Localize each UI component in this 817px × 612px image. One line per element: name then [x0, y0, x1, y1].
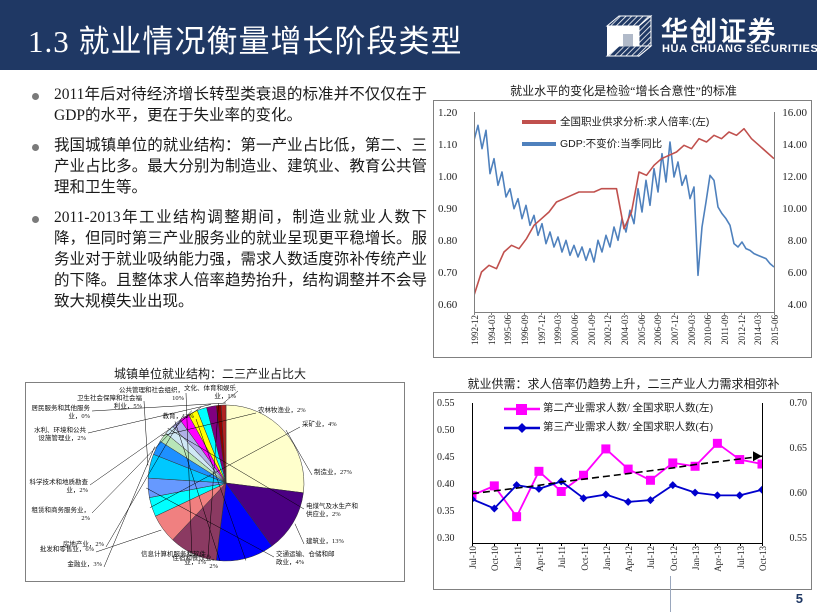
bullet-text: 2011-2013年工业结构调整期间，制造业就业人数下降，但同时第三产业服务业的… [54, 207, 427, 312]
y2-tick: 8.00 [788, 235, 807, 247]
x-tick: Jul-12 [646, 546, 656, 569]
x-tick-mark [624, 312, 625, 315]
x-tick-mark [673, 543, 674, 546]
y2-tick: 12.00 [782, 171, 807, 183]
company-logo: 华创证券 HUA CHUANG SECURITIES [605, 10, 801, 62]
x-tick: Oct-11 [580, 546, 590, 571]
y-tick: 0.45 [437, 452, 455, 463]
bullet-dot-icon [32, 144, 39, 151]
bullet-dot-icon [32, 216, 39, 223]
bullet-text: 2011年后对待经济增长转型类衰退的标准并不仅仅在于GDP的水平，更在于失业率的… [54, 84, 427, 126]
urban-employment-structure-pie: 制造业，27%建筑业，13%教育，12%公共管理和社会组织，10%批发和零售业，… [25, 382, 405, 582]
pie-slice-label: 教育，12% [144, 413, 194, 421]
y2-tick: 14.00 [782, 139, 807, 151]
x-tick: 2015-06 [770, 315, 780, 345]
x-tick: 2005-06 [637, 315, 647, 345]
x-tick: Apr-11 [535, 546, 545, 571]
x-tick-mark [591, 312, 592, 315]
x-tick-mark [524, 312, 525, 315]
x-tick: Jul-11 [557, 546, 567, 568]
supply-demand-chart-title: 就业供需：求人倍率仍趋势上升，二三产业人力需求相弥补 [430, 375, 817, 392]
x-tick: 1994-03 [487, 315, 497, 345]
chart-legend: 第二产业需求人数/ 全国求职人数(左) 第三产业需求人数/ 全国求职人数(右) [504, 399, 713, 437]
pie-slice-label: 采矿业，4% [302, 421, 348, 429]
list-item: 2011-2013年工业结构调整期间，制造业就业人数下降，但同时第三产业服务业的… [12, 207, 427, 312]
x-tick-mark [574, 312, 575, 315]
y-tick: 1.20 [438, 107, 457, 119]
x-tick-mark [741, 312, 742, 315]
legend-label: 全国职业供求分析:求人倍率:(左) [560, 111, 709, 133]
y2-tick: 4.00 [788, 299, 807, 311]
pie-slice-label: 水利、环境和公共设施管理业，2% [28, 427, 86, 443]
x-tick: Oct-10 [490, 546, 500, 571]
x-tick: Oct-12 [669, 546, 679, 571]
y2-tick: 6.00 [788, 267, 807, 279]
legend-swatch-icon [504, 403, 540, 415]
pie-slice-label: 电煤气及水生产和供应业，2% [306, 503, 362, 519]
x-tick-mark [695, 543, 696, 546]
y-axis [472, 403, 473, 543]
logo-english-name: HUA CHUANG SECURITIES [662, 43, 817, 55]
x-tick: Jul-13 [736, 546, 746, 569]
y2-axis [774, 112, 775, 312]
x-tick-mark [517, 543, 518, 546]
page-number: 5 [796, 591, 803, 606]
x-tick-mark [717, 543, 718, 546]
list-item: 2011年后对待经济增长转型类衰退的标准并不仅仅在于GDP的水平，更在于失业率的… [12, 84, 427, 126]
pie-slice-label: 制造业，27% [314, 469, 376, 477]
x-tick-mark [724, 312, 725, 315]
x-tick-mark [507, 312, 508, 315]
bullet-text: 我国城镇单位的就业结构：第一产业占比低，第二、三产业占比多。最大分别为制造业、建… [54, 135, 427, 198]
x-tick-mark [757, 312, 758, 315]
x-tick-mark [561, 543, 562, 546]
x-tick: 2010-06 [703, 315, 713, 345]
x-tick: 2004-03 [620, 315, 630, 345]
x-tick: 2014-03 [753, 315, 763, 345]
x-tick: Jul-10 [468, 546, 478, 569]
x-tick-mark [606, 543, 607, 546]
pie-slice-label: 建筑业，13% [306, 538, 364, 546]
x-tick: 2009-03 [687, 315, 697, 345]
pie-slice-label: 文化、体育和娱乐业，1% [176, 385, 236, 401]
y-tick: 0.30 [437, 533, 455, 544]
x-tick: Oct-13 [758, 546, 768, 571]
pie-slice-label: 金融业，3% [54, 561, 102, 569]
y-tick: 0.60 [438, 299, 457, 311]
x-tick-labels: Jul-10Oct-10Jan-11Apr-11Jul-11Oct-11Jan-… [472, 546, 763, 588]
x-tick: Apr-13 [713, 546, 723, 572]
x-tick-mark [472, 543, 473, 546]
x-tick: 2007-12 [670, 315, 680, 345]
x-tick: 1992-12 [470, 315, 480, 345]
y-tick: 1.00 [438, 171, 457, 183]
legend-label: 第三产业需求人数/ 全国求职人数(右) [543, 418, 713, 437]
cube-logo-icon [605, 14, 653, 58]
y-tick: 0.70 [438, 267, 457, 279]
pie-slice-label: 房地产业，2% [56, 541, 104, 549]
chart-legend: 全国职业供求分析:求人倍率:(左) GDP:不变价:当季同比 [522, 111, 709, 155]
legend-label: GDP:不变价:当季同比 [560, 133, 662, 155]
legend-item: 第三产业需求人数/ 全国求职人数(右) [504, 418, 713, 437]
y-tick: 0.40 [437, 479, 455, 490]
x-tick-mark [557, 312, 558, 315]
y2-axis [762, 403, 763, 543]
x-tick: Apr-12 [624, 546, 634, 572]
y-tick: 0.35 [437, 506, 455, 517]
legend-swatch-icon [504, 422, 540, 434]
y-tick: 0.90 [438, 203, 457, 215]
y2-tick: 0.65 [790, 443, 808, 454]
employment-gdp-chart: 1.20 1.10 1.00 0.90 0.80 0.70 0.60 16.00… [433, 100, 812, 358]
x-tick: 2000-06 [570, 315, 580, 345]
y2-tick: 10.00 [782, 203, 807, 215]
x-tick: 1995-06 [503, 315, 513, 345]
y-axis [474, 112, 475, 312]
x-tick: 2011-09 [720, 315, 730, 345]
legend-label: 第二产业需求人数/ 全国求职人数(左) [543, 399, 713, 418]
x-tick-mark [474, 312, 475, 315]
x-tick-mark [740, 543, 741, 546]
y-tick: 1.10 [438, 139, 457, 151]
page-title: 1.3 就业情况衡量增长阶段类型 [28, 16, 463, 61]
y2-tick: 0.60 [790, 488, 808, 499]
x-tick-mark [628, 543, 629, 546]
x-tick: 1997-12 [537, 315, 547, 345]
x-tick: 2001-09 [587, 315, 597, 345]
employment-gdp-chart-title: 就业水平的变化是检验“增长合意性”的标准 [430, 82, 817, 99]
x-tick-mark [762, 543, 763, 546]
y2-tick: 16.00 [782, 107, 807, 119]
x-tick-mark [707, 312, 708, 315]
x-tick-mark [774, 312, 775, 315]
x-tick-mark [691, 312, 692, 315]
y2-tick: 0.70 [790, 398, 808, 409]
legend-item: GDP:不变价:当季同比 [522, 133, 709, 155]
legend-item: 全国职业供求分析:求人倍率:(左) [522, 111, 709, 133]
x-tick-mark [539, 543, 540, 546]
x-tick: 2002-12 [603, 315, 613, 345]
bullet-list: 2011年后对待经济增长转型类衰退的标准并不仅仅在于GDP的水平，更在于失业率的… [12, 84, 427, 321]
x-tick: 1996-09 [520, 315, 530, 345]
x-tick: 1999-03 [553, 315, 563, 345]
x-tick-mark [657, 312, 658, 315]
x-tick-mark [541, 312, 542, 315]
pie-slice-label: 居民服务和其他服务业，0% [28, 405, 90, 421]
x-tick-mark [584, 543, 585, 546]
slide-header: 1.3 就业情况衡量增长阶段类型 华创证券 HUA CHUANG SECURIT… [0, 0, 817, 70]
legend-swatch-icon [522, 142, 556, 146]
legend-item: 第二产业需求人数/ 全国求职人数(左) [504, 399, 713, 418]
x-tick: 2006-09 [653, 315, 663, 345]
bullet-dot-icon [32, 93, 39, 100]
y-tick: 0.55 [437, 398, 455, 409]
x-tick: Jan-12 [602, 546, 612, 570]
pie-slice-label: 租赁和商务服务业，2% [28, 507, 90, 523]
pie-slice-label: 信息计算机服务和软件业，1% [136, 551, 206, 567]
pie-slice-label: 农林牧渔业，2% [258, 407, 318, 415]
x-tick-labels: 1992-121994-031995-061996-091997-121999-… [474, 315, 775, 357]
x-tick-mark [674, 312, 675, 315]
y2-tick: 0.55 [790, 533, 808, 544]
list-item: 我国城镇单位的就业结构：第一产业占比低，第二、三产业占比多。最大分别为制造业、建… [12, 135, 427, 198]
footer-divider [670, 576, 671, 612]
x-tick: Jan-13 [691, 546, 701, 570]
supply-demand-chart: 0.55 0.50 0.45 0.40 0.35 0.30 0.70 0.65 … [433, 392, 812, 590]
x-tick-mark [494, 543, 495, 546]
x-tick: 2012-12 [737, 315, 747, 345]
x-tick-mark [641, 312, 642, 315]
y-tick: 0.50 [437, 425, 455, 436]
legend-swatch-icon [522, 120, 556, 124]
y-tick: 0.80 [438, 235, 457, 247]
x-tick-mark [491, 312, 492, 315]
pie-slice-label: 科学技术和地质勘查业，2% [28, 479, 88, 495]
x-tick-mark [607, 312, 608, 315]
x-tick: Jan-11 [513, 546, 523, 570]
pie-slice-label: 交通运输、仓储和邮政业，4% [276, 551, 338, 567]
pie-chart-title: 城镇单位就业结构：二三产业占比大 [15, 365, 405, 382]
x-tick-mark [650, 543, 651, 546]
